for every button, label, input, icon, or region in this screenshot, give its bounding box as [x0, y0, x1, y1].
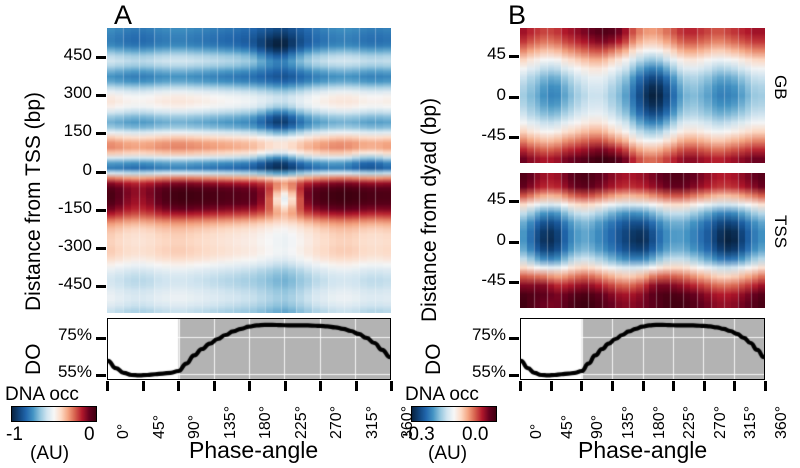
axis-tick-mark [580, 381, 583, 391]
panel-letter-a: A [114, 2, 132, 29]
panel-a-legend-max: 0 [84, 424, 95, 446]
axis-tick-mark [733, 381, 736, 391]
axis-tick-mark [106, 381, 109, 391]
panel-b-x-tick-label: 135° [620, 406, 638, 439]
panel-a-legend-unit: (AU) [30, 443, 69, 465]
panel-a-x-tick-label: 0° [115, 424, 133, 439]
panel-a-do-canvas [108, 319, 390, 379]
panel-a-legend-min: -1 [6, 424, 23, 446]
panel-a-y-tick-label: 450 [36, 45, 92, 65]
panel-a-colorbar [11, 406, 97, 422]
panel-b-do-tick-label: 55% [448, 362, 506, 382]
axis-tick-mark [509, 241, 519, 244]
axis-tick-mark [764, 381, 767, 391]
panel-b-do-title: DO [422, 344, 446, 376]
panel-a-y-tick-label: 150 [36, 121, 92, 141]
axis-tick-mark [509, 281, 519, 284]
panel-a-do-tick-label: 75% [38, 325, 92, 345]
panel-a-x-tick-label: 90° [186, 415, 204, 439]
panel-b-x-axis-title: Phase-angle [578, 437, 707, 464]
axis-tick-mark [355, 381, 358, 391]
panel-a-x-tick-label: 315° [364, 406, 382, 439]
panel-b-x-tick-label: 180° [651, 406, 669, 439]
axis-tick-mark [519, 381, 522, 391]
panel-a-y-tick-label: -300 [36, 236, 92, 256]
axis-tick-mark [96, 56, 106, 59]
panel-b-tss-heatmap [520, 173, 765, 308]
panel-a-x-tick-label: 270° [328, 406, 346, 439]
axis-tick-mark [509, 374, 519, 377]
panel-a-y-tick-label: -150 [36, 198, 92, 218]
axis-tick-mark [509, 136, 519, 139]
panel-b-y-tick-label-gb: -45 [452, 125, 506, 145]
axis-tick-mark [96, 171, 106, 174]
panel-b-x-tick-label: 225° [681, 406, 699, 439]
axis-tick-mark [550, 381, 553, 391]
panel-b-y-tick-label-tss: -45 [452, 270, 506, 290]
panel-b-y-tick-label-gb: 45 [452, 44, 506, 64]
panel-b-do-canvas [521, 319, 764, 379]
axis-tick-mark [96, 337, 106, 340]
axis-tick-mark [509, 337, 519, 340]
panel-b-x-tick-label: 0° [528, 424, 546, 439]
panel-a-y-tick-label: 0 [36, 160, 92, 180]
axis-tick-mark [142, 381, 145, 391]
panel-letter-b: B [508, 2, 526, 29]
panel-a-x-tick-label: 180° [257, 406, 275, 439]
axis-tick-mark [177, 381, 180, 391]
panel-a-x-tick-label: 45° [151, 415, 169, 439]
panel-a-y-tick-label: 300 [36, 83, 92, 103]
axis-tick-mark [611, 381, 614, 391]
axis-tick-mark [96, 132, 106, 135]
axis-tick-mark [96, 94, 106, 97]
panel-b-x-tick-label: 90° [589, 415, 607, 439]
panel-b-do-tick-label: 75% [448, 325, 506, 345]
panel-b-x-tick-label: 45° [559, 415, 577, 439]
panel-a-y-tick-label: -450 [36, 274, 92, 294]
panel-a-heatmap [107, 28, 391, 313]
panel-b-legend-unit: (AU) [428, 443, 467, 465]
panel-b-y-tick-label-gb: 0 [452, 85, 506, 105]
axis-tick-mark [96, 247, 106, 250]
panel-b-x-tick-label: 315° [742, 406, 760, 439]
panel-b-y-tick-label-tss: 0 [452, 230, 506, 250]
panel-a-x-tick-label: 135° [222, 406, 240, 439]
panel-a-do-plot [107, 318, 391, 380]
axis-tick-mark [96, 285, 106, 288]
panel-b-x-tick-label: 270° [712, 406, 730, 439]
figure-root: A Distance from TSS (bp) 4503001500-150-… [0, 0, 800, 468]
axis-tick-mark [319, 381, 322, 391]
panel-b-y-tick-label-tss: 45 [452, 189, 506, 209]
panel-b-y-axis-title: Distance from dyad (bp) [418, 98, 442, 322]
panel-a-x-tick-label: 225° [293, 406, 311, 439]
panel-b-strip-tss: TSS [770, 215, 790, 248]
panel-a-legend-title: DNA occ [5, 384, 79, 406]
axis-tick-mark [672, 381, 675, 391]
axis-tick-mark [284, 381, 287, 391]
axis-tick-mark [642, 381, 645, 391]
axis-tick-mark [96, 209, 106, 212]
panel-a-do-tick-label: 55% [38, 362, 92, 382]
axis-tick-mark [509, 96, 519, 99]
panel-b-x-tick-label: 360° [773, 406, 791, 439]
axis-tick-mark [248, 381, 251, 391]
axis-tick-mark [509, 55, 519, 58]
axis-tick-mark [509, 200, 519, 203]
panel-b-legend-title: DNA occ [405, 384, 479, 406]
axis-tick-mark [390, 381, 393, 391]
axis-tick-mark [213, 381, 216, 391]
axis-tick-mark [703, 381, 706, 391]
panel-a-x-axis-title: Phase-angle [189, 437, 318, 464]
panel-b-colorbar [411, 406, 497, 422]
axis-tick-mark [96, 374, 106, 377]
panel-b-strip-gb: GB [770, 75, 790, 100]
panel-b-do-plot [520, 318, 765, 380]
panel-b-gb-heatmap [520, 28, 765, 163]
